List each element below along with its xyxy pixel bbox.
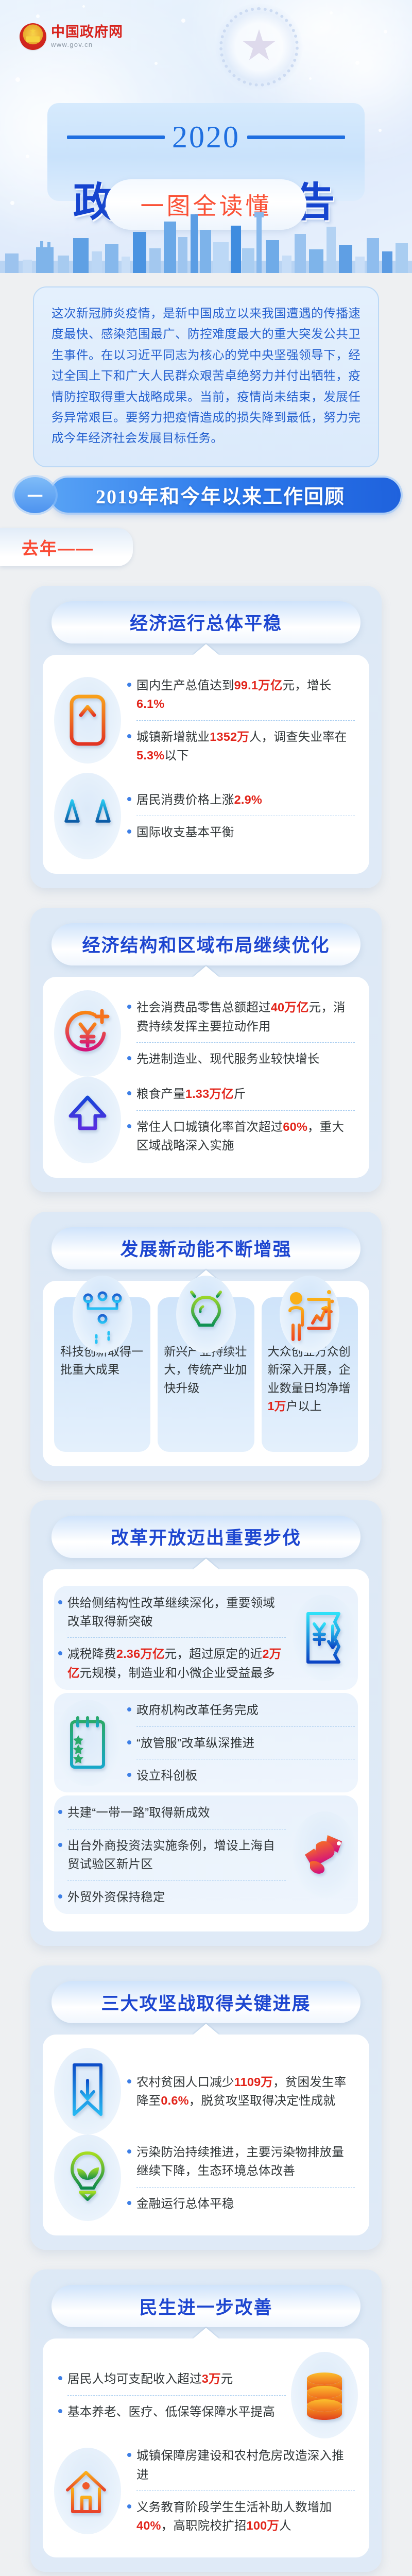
icon-bullet-row: 城镇保障房建设和农村危房改造深入推进 义务教育阶段学生生活补助人数增加40%，高… bbox=[54, 2438, 358, 2543]
highlight-value: 6.1% bbox=[136, 697, 164, 710]
highlight-value: 100万 bbox=[247, 2519, 280, 2532]
last-year-tab: 去年—— bbox=[0, 528, 133, 566]
card-title: 三大攻坚战取得关键进展 bbox=[101, 1989, 311, 2015]
card-body: 供给侧结构性改革继续深化，重要领域改革取得新突破 减税降费2.36万亿元，超过原… bbox=[43, 1569, 369, 1932]
coin-stack-icon bbox=[291, 2352, 358, 2438]
card-body: 科技创新取得一批重大成果 新兴产业持续壮大，传统产业加快升级 大众创 bbox=[43, 1281, 369, 1466]
icon-bullet-row: 政府机构改革任务完成 “放管服”改革纵深推进 设立科创板 bbox=[54, 1693, 358, 1792]
yuan-down-document-icon bbox=[291, 1595, 358, 1681]
bullet-text: 供给侧结构性改革继续深化，重要领域改革取得新突破 bbox=[67, 1594, 286, 1631]
bullet-list: 社会消费品零售总额超过40万亿元，消费持续发挥主要拉动作用 先进制造业、现代服务… bbox=[123, 990, 358, 1076]
decor-snow bbox=[26, 155, 29, 158]
card-title-pill: 改革开放迈出重要步伐 bbox=[51, 1516, 360, 1558]
bullet-dot-icon bbox=[127, 2201, 131, 2205]
highlight-value: 40万亿 bbox=[271, 1001, 309, 1014]
bullet-separator bbox=[136, 720, 355, 721]
bullet-separator bbox=[136, 2187, 355, 2188]
balance-scale-icon bbox=[54, 773, 121, 859]
bullet-separator bbox=[136, 1042, 355, 1043]
green-leaf-bulb-icon bbox=[54, 2134, 121, 2221]
highlight-value: 99.1万亿 bbox=[234, 679, 283, 692]
bullet-item: 居民人均可支配收入超过3万元 bbox=[58, 2364, 286, 2394]
decor-snow bbox=[15, 77, 20, 82]
cards-container: 经济运行总体平稳 国内生产总值达到99.1万亿元，增长6.1% 城镇新增就业13… bbox=[0, 586, 412, 2572]
card-notch bbox=[193, 2328, 219, 2339]
highlight-value: 2万亿 bbox=[67, 1647, 281, 1679]
content-card: 经济结构和区域布局继续优化 社会消费品零售总额超过40万亿元，消费持续发挥主要拉… bbox=[30, 908, 382, 1192]
decor-snow bbox=[355, 61, 359, 65]
section-bar: 2019年和今年以来工作回顾 bbox=[50, 478, 401, 513]
bullet-item: 国内生产总值达到99.1万亿元，增长6.1% bbox=[127, 670, 355, 719]
bullet-text: 共建“一带一路”取得新成效 bbox=[67, 1803, 210, 1822]
bullet-text: 居民人均可支配收入超过3万元 bbox=[67, 2369, 233, 2388]
bullet-text: “放管服”改革纵深推进 bbox=[136, 1734, 254, 1752]
city-skyline-icon bbox=[0, 211, 412, 273]
bullet-dot-icon bbox=[127, 1056, 131, 1060]
decor-snow bbox=[181, 19, 185, 23]
bullet-dot-icon bbox=[127, 2504, 131, 2509]
down-arrow-banner-icon bbox=[54, 2048, 121, 2134]
feature-column: 科技创新取得一批重大成果 bbox=[54, 1297, 150, 1452]
bullet-item: 污染防治持续推进，主要污染物排放量继续下降，生态环境总体改善 bbox=[127, 2137, 355, 2186]
feature-column: 大众创业万众创新深入开展，企业数量日均净增1万户以上 bbox=[262, 1297, 358, 1452]
bullet-item: 设立科创板 bbox=[127, 1760, 355, 1790]
yuan-plus-icon bbox=[54, 990, 121, 1077]
bullet-separator bbox=[136, 2490, 355, 2491]
national-emblem-seal-icon bbox=[20, 23, 46, 50]
bullet-list: 国内生产总值达到99.1万亿元，增长6.1% 城镇新增就业1352万人，调查失业… bbox=[123, 668, 358, 773]
decor-snow bbox=[154, 62, 158, 65]
highlight-value: 60% bbox=[283, 1120, 307, 1133]
card-title: 经济运行总体平稳 bbox=[130, 609, 282, 635]
card-body: 居民人均可支配收入超过3万元 基本养老、医疗、低保等保障水平提高 城镇保障房建设… bbox=[43, 2338, 369, 2557]
hero-year: 2020 bbox=[172, 120, 240, 155]
intro-section: 这次新冠肺炎疫情，是新中国成立以来我国遭遇的传播速度最快、感染范围最广、防控难度… bbox=[0, 273, 412, 467]
highlight-value: 2.36万亿 bbox=[116, 1647, 165, 1660]
year-rule-left bbox=[67, 135, 165, 139]
bullet-separator bbox=[67, 2395, 286, 2396]
section-header: 2019年和今年以来工作回顾 一 bbox=[0, 467, 412, 528]
highlight-value: 2.9% bbox=[234, 793, 262, 806]
highlight-value: 1352万 bbox=[210, 730, 249, 743]
feature-column: 新兴产业持续壮大，传统产业加快升级 bbox=[158, 1297, 254, 1452]
decor-snow bbox=[384, 30, 387, 33]
card-title-pill: 发展新动能不断增强 bbox=[51, 1227, 360, 1269]
house-education-icon bbox=[54, 2448, 121, 2534]
icon-bullet-row: 农村贫困人口减少1109万，贫困发生率降至0.6%，脱贫攻坚取得决定性成就 bbox=[54, 2048, 358, 2134]
bullet-item: 义务教育阶段学生生活补助人数增加40%，高职院校扩招100万人 bbox=[127, 2492, 355, 2541]
card-notch bbox=[193, 644, 219, 655]
bullet-dot-icon bbox=[127, 829, 131, 834]
icon-bullet-row: 污染防治持续推进，主要污染物排放量继续下降，生态环境总体改善 金融运行总体平稳 bbox=[54, 2134, 358, 2221]
bullet-item: 政府机构改革任务完成 bbox=[127, 1695, 355, 1725]
content-card: 发展新动能不断增强 科技创新取得一批重大成果 新 bbox=[30, 1212, 382, 1481]
card-notch bbox=[193, 1558, 219, 1570]
bullet-item: 出台外商投资法实施条例，增设上海自贸试验区新片区 bbox=[58, 1831, 286, 1879]
card-title: 经济结构和区域布局继续优化 bbox=[82, 931, 330, 957]
bullet-separator bbox=[67, 1829, 286, 1829]
bullet-text: 设立科创板 bbox=[136, 1766, 198, 1785]
highlight-value: 1万 bbox=[268, 1399, 286, 1413]
bullet-list: 居民人均可支配收入超过3万元 基本养老、医疗、低保等保障水平提高 bbox=[54, 2362, 289, 2429]
bullet-text: 居民消费价格上涨2.9% bbox=[136, 790, 262, 809]
bullet-dot-icon bbox=[127, 1091, 131, 1095]
card-notch bbox=[193, 966, 219, 977]
circuit-tree-icon bbox=[73, 1276, 132, 1353]
bullet-text: 政府机构改革任务完成 bbox=[136, 1701, 259, 1719]
icon-bullet-row: 居民消费价格上涨2.9% 国际收支基本平衡 bbox=[54, 773, 358, 859]
icon-bullet-row: 居民人均可支配收入超过3万元 基本养老、医疗、低保等保障水平提高 bbox=[54, 2352, 358, 2438]
bullet-dot-icon bbox=[127, 734, 131, 738]
bullet-dot-icon bbox=[58, 1810, 62, 1814]
card-title: 发展新动能不断增强 bbox=[120, 1235, 291, 1261]
bullet-item: 农村贫困人口减少1109万，贫困发生率降至0.6%，脱贫攻坚取得决定性成就 bbox=[127, 2067, 355, 2116]
card-body: 农村贫困人口减少1109万，贫困发生率降至0.6%，脱贫攻坚取得决定性成就 污染… bbox=[43, 2035, 369, 2235]
bullet-text: 义务教育阶段学生生活补助人数增加40%，高职院校扩招100万人 bbox=[136, 2498, 355, 2535]
card-title-pill: 经济结构和区域布局继续优化 bbox=[51, 923, 360, 965]
brand-url: www.gov.cn bbox=[51, 41, 123, 48]
site-brand[interactable]: 中国政府网 www.gov.cn bbox=[20, 23, 123, 50]
card-title: 改革开放迈出重要步伐 bbox=[111, 1523, 301, 1550]
bullet-separator bbox=[136, 816, 355, 816]
presenter-chart-icon bbox=[280, 1276, 339, 1353]
bullet-dot-icon bbox=[127, 2079, 131, 2083]
lightbulb-green-icon bbox=[176, 1276, 236, 1353]
page-tail-spacer bbox=[0, 2572, 412, 2576]
bullet-text: 出台外商投资法实施条例，增设上海自贸试验区新片区 bbox=[67, 1836, 286, 1874]
bullet-dot-icon bbox=[127, 1124, 131, 1128]
icon-bullet-row: 粮食产量1.33万亿斤 常住人口城镇化率首次超过60%，重大区域战略深入实施 bbox=[54, 1077, 358, 1163]
bullet-text: 金融运行总体平稳 bbox=[136, 2194, 234, 2213]
content-card: 民生进一步改善 居民人均可支配收入超过3万元 基本养老、医疗、低保等保障水平提高 bbox=[30, 2269, 382, 2572]
card-title-pill: 三大攻坚战取得关键进展 bbox=[51, 1981, 360, 2023]
year-rule-right bbox=[247, 135, 345, 139]
last-year-label: 去年—— bbox=[22, 535, 94, 560]
bullet-text: 外贸外资保持稳定 bbox=[67, 1888, 165, 1906]
bullet-item: 金融运行总体平稳 bbox=[127, 2189, 355, 2218]
bullet-dot-icon bbox=[127, 683, 131, 687]
bullet-item: 粮食产量1.33万亿斤 bbox=[127, 1079, 355, 1109]
decor-snow bbox=[82, 5, 85, 8]
bullet-dot-icon bbox=[127, 1773, 131, 1777]
bullet-item: 供给侧结构性改革继续深化，重要领域改革取得新突破 bbox=[58, 1588, 286, 1637]
infographic-page: 中国政府网 www.gov.cn 2020 政府工作报告 一图全读懂 bbox=[0, 0, 412, 2576]
bullet-dot-icon bbox=[127, 2149, 131, 2154]
intro-card: 这次新冠肺炎疫情，是新中国成立以来我国遭遇的传播速度最快、感染范围最广、防控难度… bbox=[33, 286, 379, 467]
bullet-separator bbox=[67, 1880, 286, 1881]
section-title: 2019年和今年以来工作回顾 bbox=[96, 481, 345, 509]
bullet-item: 先进制造业、现代服务业较快增长 bbox=[127, 1044, 355, 1074]
highlight-value: 0.6% bbox=[161, 2094, 188, 2107]
bullet-separator bbox=[136, 1726, 355, 1727]
bullet-dot-icon bbox=[58, 2376, 62, 2380]
decor-snow bbox=[36, 14, 40, 18]
bullet-list: 居民消费价格上涨2.9% 国际收支基本平衡 bbox=[123, 783, 358, 850]
bullet-item: 减税降费2.36万亿元，超过原定的近2万亿元规模，制造业和小微企业受益最多 bbox=[58, 1639, 286, 1688]
bullet-list: 共建“一带一路”取得新成效 出台外商投资法实施条例，增设上海自贸试验区新片区 外… bbox=[54, 1795, 289, 1914]
highlight-value: 3万 bbox=[202, 2372, 221, 2385]
bullet-list: 城镇保障房建设和农村危房改造深入推进 义务教育阶段学生生活补助人数增加40%，高… bbox=[123, 2438, 358, 2543]
bullet-dot-icon bbox=[58, 1843, 62, 1847]
clipboard-checklist-icon bbox=[54, 1700, 121, 1786]
bullet-item: 外贸外资保持稳定 bbox=[58, 1882, 286, 1912]
handshake-icon bbox=[291, 1811, 358, 1898]
bullet-text: 基本养老、医疗、低保等保障水平提高 bbox=[67, 2402, 275, 2421]
bullet-separator bbox=[136, 1759, 355, 1759]
bullet-text: 国内生产总值达到99.1万亿元，增长6.1% bbox=[136, 676, 355, 714]
card-title-pill: 民生进一步改善 bbox=[51, 2285, 360, 2327]
highlight-value: 1.33万亿 bbox=[185, 1087, 234, 1100]
icon-bullet-row: 国内生产总值达到99.1万亿元，增长6.1% 城镇新增就业1352万人，调查失业… bbox=[54, 668, 358, 773]
bullet-item: 常住人口城镇化率首次超过60%，重大区域战略深入实施 bbox=[127, 1112, 355, 1161]
highlight-value: 1109万 bbox=[234, 2075, 273, 2089]
bullet-list: 粮食产量1.33万亿斤 常住人口城镇化率首次超过60%，重大区域战略深入实施 bbox=[123, 1077, 358, 1162]
card-title: 民生进一步改善 bbox=[139, 2293, 272, 2319]
bullet-text: 常住人口城镇化率首次超过60%，重大区域战略深入实施 bbox=[136, 1117, 355, 1155]
bullet-text: 国际收支基本平衡 bbox=[136, 823, 234, 841]
bullet-text: 城镇新增就业1352万人，调查失业率在5.3%以下 bbox=[136, 727, 355, 765]
bullet-separator bbox=[67, 1637, 286, 1638]
decor-snow bbox=[330, 11, 333, 14]
bullet-dot-icon bbox=[58, 1894, 62, 1899]
bullet-dot-icon bbox=[58, 2409, 62, 2413]
bullet-list: 供给侧结构性改革继续深化，重要领域改革取得新突破 减税降费2.36万亿元，超过原… bbox=[54, 1586, 289, 1690]
highlight-value: 40% bbox=[136, 2519, 161, 2532]
bullet-text: 城镇保障房建设和农村危房改造深入推进 bbox=[136, 2446, 355, 2484]
bullet-dot-icon bbox=[58, 1651, 62, 1655]
bullet-dot-icon bbox=[127, 1740, 131, 1744]
bullet-text: 污染防治持续推进，主要污染物排放量继续下降，生态环境总体改善 bbox=[136, 2143, 355, 2180]
hero-banner: 中国政府网 www.gov.cn 2020 政府工作报告 一图全读懂 bbox=[0, 0, 412, 273]
content-card: 改革开放迈出重要步伐 供给侧结构性改革继续深化，重要领域改革取得新突破 减税降费… bbox=[30, 1500, 382, 1946]
section-number-badge: 一 bbox=[14, 477, 56, 513]
bullet-text: 粮食产量1.33万亿斤 bbox=[136, 1084, 246, 1103]
bullet-text: 先进制造业、现代服务业较快增长 bbox=[136, 1049, 320, 1068]
up-arrow-chart-icon bbox=[54, 677, 121, 764]
card-notch bbox=[193, 2024, 219, 2035]
hero-year-row: 2020 bbox=[0, 120, 412, 155]
feature-column-text: 大众创业万众创新深入开展，企业数量日均净增1万户以上 bbox=[268, 1343, 352, 1416]
bullet-dot-icon bbox=[127, 1005, 131, 1009]
bullet-dot-icon bbox=[127, 1707, 131, 1711]
highlight-value: 5.3% bbox=[136, 749, 164, 762]
bullet-item: “放管服”改革纵深推进 bbox=[127, 1728, 355, 1758]
bullet-dot-icon bbox=[127, 2453, 131, 2457]
three-column-grid: 科技创新取得一批重大成果 新兴产业持续壮大，传统产业加快升级 大众创 bbox=[54, 1294, 358, 1452]
intro-paragraph: 这次新冠肺炎疫情，是新中国成立以来我国遭遇的传播速度最快、感染范围最广、防控难度… bbox=[51, 303, 360, 449]
content-card: 三大攻坚战取得关键进展 农村贫困人口减少1109万，贫困发生率降至0.6%，脱贫… bbox=[30, 1965, 382, 2250]
bullet-dot-icon bbox=[58, 1600, 62, 1604]
bullet-item: 居民消费价格上涨2.9% bbox=[127, 785, 355, 815]
icon-bullet-row: 共建“一带一路”取得新成效 出台外商投资法实施条例，增设上海自贸试验区新片区 外… bbox=[54, 1795, 358, 1914]
bullet-item: 社会消费品零售总额超过40万亿元，消费持续发挥主要拉动作用 bbox=[127, 992, 355, 1041]
bullet-item: 共建“一带一路”取得新成效 bbox=[58, 1798, 286, 1827]
card-body: 国内生产总值达到99.1万亿元，增长6.1% 城镇新增就业1352万人，调查失业… bbox=[43, 655, 369, 874]
card-body: 社会消费品零售总额超过40万亿元，消费持续发挥主要拉动作用 先进制造业、现代服务… bbox=[43, 977, 369, 1178]
content-card: 经济运行总体平稳 国内生产总值达到99.1万亿元，增长6.1% 城镇新增就业13… bbox=[30, 586, 382, 888]
national-emblem-star-icon bbox=[215, 3, 303, 91]
brand-name: 中国政府网 bbox=[51, 25, 123, 39]
card-title-pill: 经济运行总体平稳 bbox=[51, 601, 360, 643]
bullet-text: 社会消费品零售总额超过40万亿元，消费持续发挥主要拉动作用 bbox=[136, 998, 355, 1036]
bullet-item: 城镇新增就业1352万人，调查失业率在5.3%以下 bbox=[127, 722, 355, 771]
bullet-item: 国际收支基本平衡 bbox=[127, 817, 355, 847]
bullet-separator bbox=[136, 1110, 355, 1111]
urbanization-up-arrow-icon bbox=[54, 1077, 121, 1163]
bullet-text: 减税降费2.36万亿元，超过原定的近2万亿元规模，制造业和小微企业受益最多 bbox=[67, 1645, 286, 1682]
icon-bullet-row: 供给侧结构性改革继续深化，重要领域改革取得新突破 减税降费2.36万亿元，超过原… bbox=[54, 1586, 358, 1690]
bullet-item: 城镇保障房建设和农村危房改造深入推进 bbox=[127, 2441, 355, 2489]
bullet-list: 政府机构改革任务完成 “放管服”改革纵深推进 设立科创板 bbox=[123, 1693, 358, 1792]
decor-snow bbox=[309, 77, 312, 80]
bullet-dot-icon bbox=[127, 797, 131, 801]
bullet-text: 农村贫困人口减少1109万，贫困发生率降至0.6%，脱贫攻坚取得决定性成就 bbox=[136, 2073, 355, 2110]
bullet-list: 农村贫困人口减少1109万，贫困发生率降至0.6%，脱贫攻坚取得决定性成就 bbox=[123, 2065, 358, 2118]
bullet-list: 污染防治持续推进，主要污染物排放量继续下降，生态环境总体改善 金融运行总体平稳 bbox=[123, 2135, 358, 2221]
bullet-item: 基本养老、医疗、低保等保障水平提高 bbox=[58, 2397, 286, 2427]
icon-bullet-row: 社会消费品零售总额超过40万亿元，消费持续发挥主要拉动作用 先进制造业、现代服务… bbox=[54, 990, 358, 1077]
